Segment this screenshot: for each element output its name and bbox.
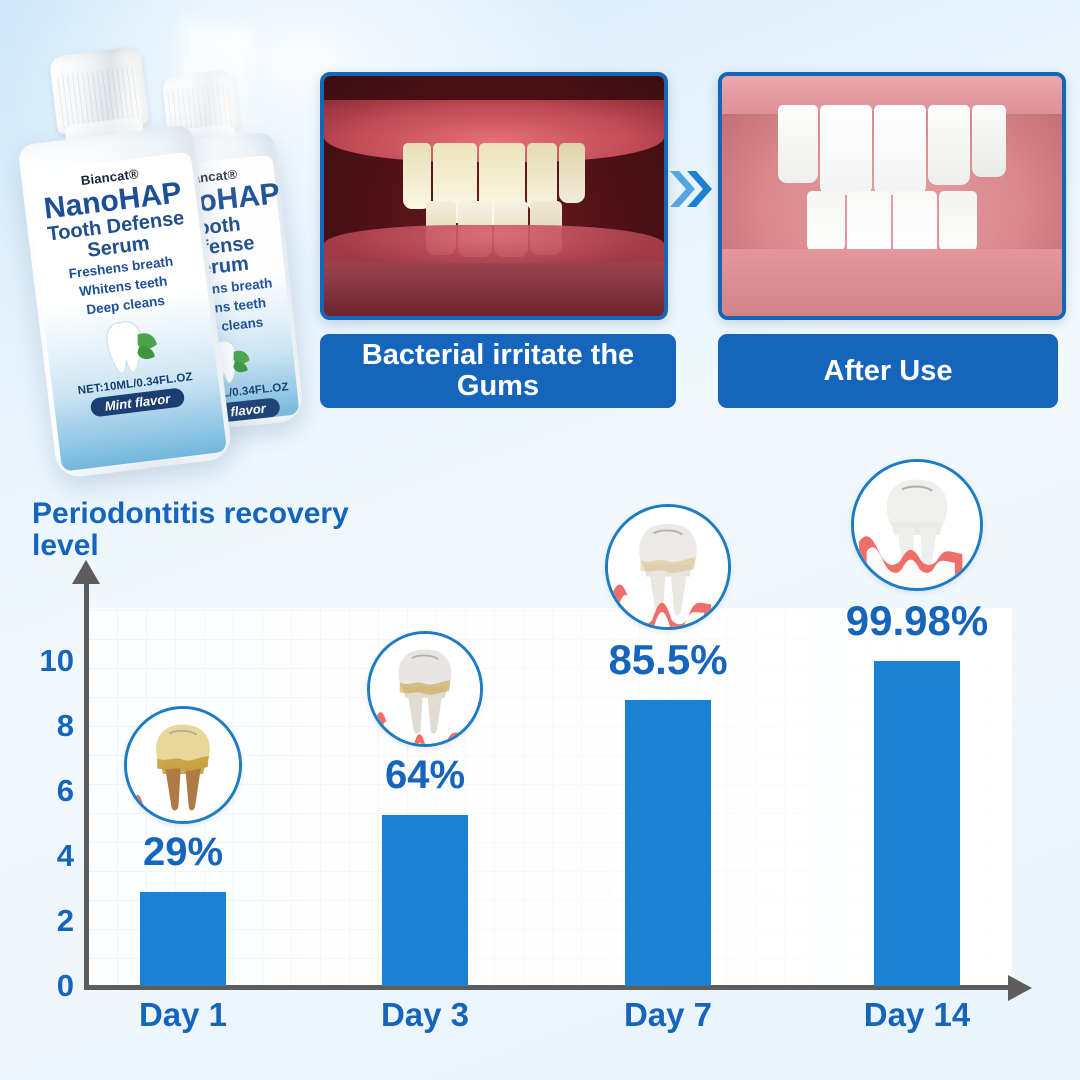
double-chevron-right-icon [668,168,714,210]
tooth-healthy-icon [851,459,983,591]
bar-day-7 [625,700,711,986]
y-tick-label: 6 [14,773,74,809]
before-caption-banner: Bacterial irritate the Gums [320,334,676,408]
after-caption-banner: After Use [718,334,1058,408]
x-label-day-3: Day 3 [381,996,469,1034]
tooth-moderate-periodontitis-icon [367,631,483,747]
data-label-day-7: 85.5% [608,636,727,684]
x-axis-arrow [1008,975,1032,1001]
bottle-label: Biancat® NanoHAP Tooth Defense Serum Fre… [26,152,227,472]
data-label-day-1: 29% [143,830,223,875]
before-photo [320,72,668,320]
y-tick-label: 10 [14,643,74,679]
product-bottles: Biancat® NanoHAP Tooth Defense Serum Fre… [18,20,308,470]
y-tick-label: 2 [14,903,74,939]
y-tick-label: 4 [14,838,74,874]
x-label-day-14: Day 14 [864,996,970,1034]
x-label-day-7: Day 7 [624,996,712,1034]
bar-day-14 [874,661,960,986]
after-photo [718,72,1066,320]
chart-title: Periodontitis recovery level [32,498,362,562]
tooth-mild-periodontitis-icon [605,504,731,630]
data-label-day-3: 64% [385,753,465,798]
y-tick-label: 8 [14,708,74,744]
tooth-severe-periodontitis-icon [124,706,242,824]
bar-day-1 [140,892,226,986]
data-label-day-14: 99.98% [846,597,988,645]
x-label-day-1: Day 1 [139,996,227,1034]
tooth-leaf-artwork [98,312,163,381]
y-axis-line [84,578,89,990]
bar-day-3 [382,815,468,986]
y-axis-arrow [72,560,100,584]
y-tick-label: 0 [14,968,74,1004]
